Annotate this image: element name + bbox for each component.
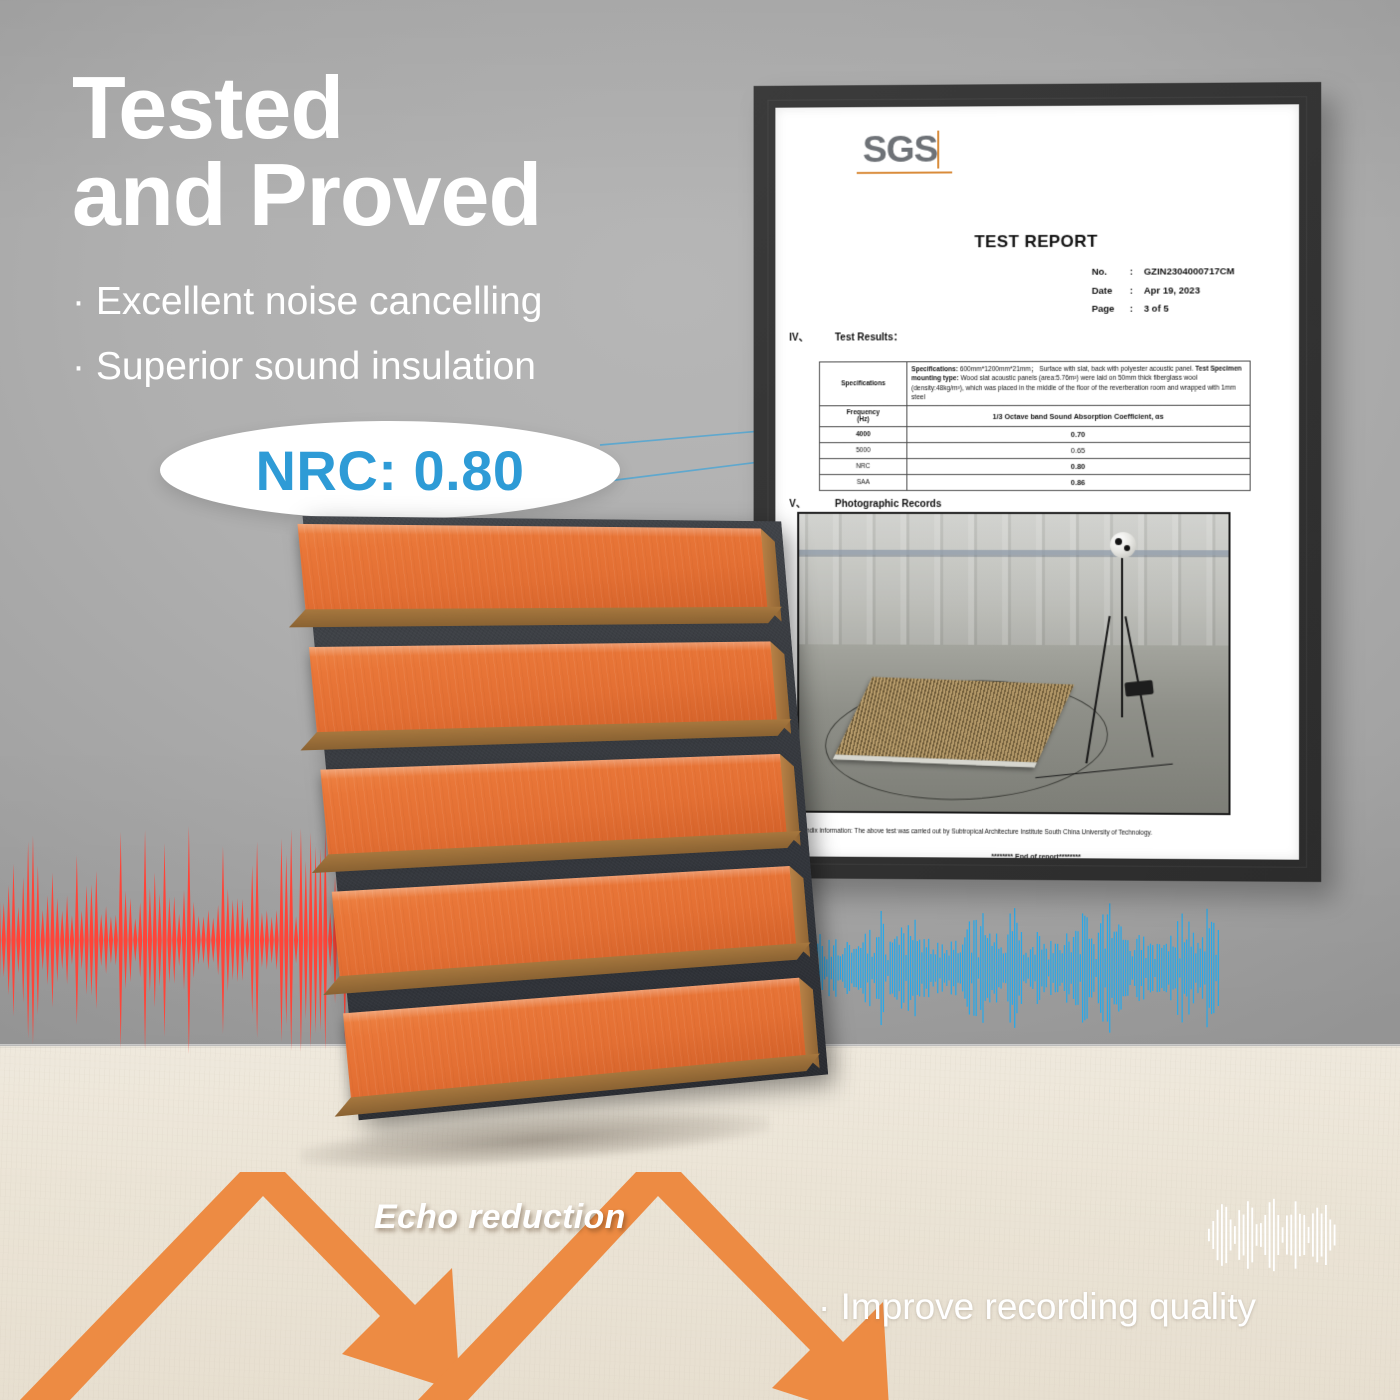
section-test-results-heading: IV、Test Results： bbox=[789, 328, 903, 343]
panel-body bbox=[296, 508, 842, 1158]
feature-bullet-list: · Excellent noise cancelling · Superior … bbox=[72, 282, 732, 412]
report-meta-no-colon: : bbox=[1130, 264, 1140, 283]
sgs-logo-text: SGS bbox=[863, 129, 938, 170]
table-row: 5000 0.65 bbox=[819, 443, 1250, 459]
row-label-saa: SAA bbox=[819, 475, 906, 491]
table-row-header: Frequency (Hz) 1/3 Octave band Sound Abs… bbox=[819, 406, 1250, 427]
report-meta-date-key: Date bbox=[1092, 282, 1126, 301]
report-meta-no-key: No. bbox=[1092, 264, 1126, 283]
amplifier-unit bbox=[1124, 680, 1153, 697]
chamber-test-specimen bbox=[832, 677, 1074, 768]
section-4-title: Test Results： bbox=[835, 332, 903, 343]
spec-title: Specifications: bbox=[911, 366, 958, 373]
wood-slat bbox=[320, 754, 786, 856]
table-row: NRC 0.80 bbox=[819, 459, 1250, 475]
reverberation-chamber-photo bbox=[797, 512, 1230, 815]
report-meta-page-colon: : bbox=[1130, 301, 1140, 320]
table-row: SAA 0.86 bbox=[819, 475, 1250, 491]
page-title: Tested and Proved bbox=[72, 64, 712, 238]
spec-text: 600mm*1200mm*21mm； Surface with slat, ba… bbox=[958, 366, 1193, 373]
product-marketing-image: Tested and Proved · Excellent noise canc… bbox=[0, 0, 1400, 1400]
chamber-wall-ribs bbox=[799, 514, 1228, 655]
row-value-saa: 0.86 bbox=[907, 475, 1250, 491]
row-label-nrc: NRC bbox=[819, 459, 906, 475]
echo-reduction-label: Echo reduction bbox=[374, 1198, 626, 1237]
sgs-logo: SGS bbox=[863, 129, 938, 171]
headline-line-1: Tested bbox=[72, 58, 343, 157]
bullet-sound-insulation: · Superior sound insulation bbox=[72, 347, 732, 386]
chamber-scene bbox=[799, 514, 1228, 813]
spec-row-label: Specifications bbox=[819, 362, 906, 406]
nrc-badge: NRC: 0.80 bbox=[160, 421, 620, 519]
dodecahedron-speaker-icon bbox=[1110, 532, 1136, 558]
echo-reduction-arrows bbox=[0, 1140, 900, 1400]
freq-header-line2: (Hz) bbox=[824, 417, 902, 424]
report-appendix-text: Appendix information: The above test was… bbox=[791, 827, 1230, 839]
row-value-nrc: 0.80 bbox=[907, 459, 1250, 475]
freq-header-cell: Frequency (Hz) bbox=[819, 406, 906, 427]
equalizer-icon bbox=[1208, 1196, 1338, 1274]
wood-slat bbox=[309, 641, 777, 734]
coefficient-header-cell: 1/3 Octave band Sound Absorption Coeffic… bbox=[907, 406, 1250, 427]
report-title: TEST REPORT bbox=[775, 231, 1299, 253]
sgs-logo-underline bbox=[857, 171, 952, 174]
tripod-pole bbox=[1121, 550, 1123, 717]
row-label-5000: 5000 bbox=[819, 443, 906, 459]
improve-recording-label: · Improve recording quality bbox=[818, 1286, 1256, 1328]
sgs-logo-tick bbox=[937, 131, 939, 169]
table-row: 4000 0.70 bbox=[819, 427, 1250, 443]
report-meta-page: Page : 3 of 5 bbox=[1092, 300, 1235, 319]
report-meta-no-value: GZIN2304000717CM bbox=[1144, 263, 1235, 282]
row-value-4000: 0.70 bbox=[907, 427, 1250, 443]
section-4-number: IV、 bbox=[789, 329, 835, 344]
row-label-4000: 4000 bbox=[819, 427, 906, 443]
report-meta-date-value: Apr 19, 2023 bbox=[1144, 282, 1200, 301]
spec-row-body: Specifications: 600mm*1200mm*21mm； Surfa… bbox=[907, 361, 1250, 406]
report-meta-date-colon: : bbox=[1130, 282, 1140, 301]
test-results-table: Specifications Specifications: 600mm*120… bbox=[819, 361, 1251, 492]
report-meta-page-value: 3 of 5 bbox=[1144, 301, 1169, 320]
report-meta-block: No. : GZIN2304000717CM Date : Apr 19, 20… bbox=[1092, 263, 1235, 319]
headline-line-2: and Proved bbox=[72, 151, 712, 238]
nrc-badge-label: NRC: 0.80 bbox=[255, 438, 524, 503]
report-meta-page-key: Page bbox=[1092, 301, 1126, 320]
report-meta-no: No. : GZIN2304000717CM bbox=[1092, 263, 1235, 282]
row-value-5000: 0.65 bbox=[907, 443, 1250, 459]
bullet-noise-cancelling: · Excellent noise cancelling bbox=[72, 282, 732, 321]
wood-slat bbox=[297, 524, 767, 611]
acoustic-panel-product bbox=[296, 508, 856, 1168]
mount-text: Wood slat acoustic panels (area:5.76m²) … bbox=[911, 375, 1236, 401]
table-row-specifications: Specifications Specifications: 600mm*120… bbox=[819, 361, 1250, 406]
report-meta-date: Date : Apr 19, 2023 bbox=[1092, 282, 1235, 301]
